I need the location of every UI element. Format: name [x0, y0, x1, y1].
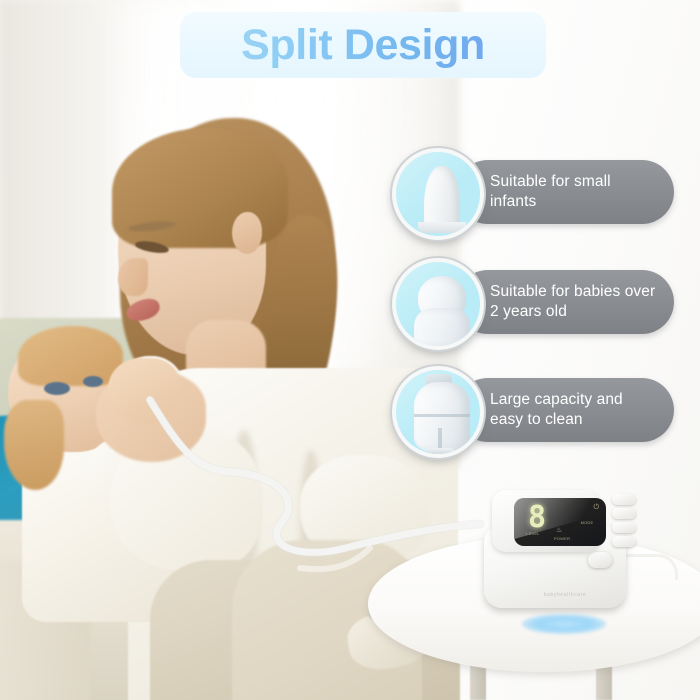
- feature-callout-over-two-years[interactable]: Suitable for babies over 2 years old: [392, 258, 680, 356]
- device-button-1[interactable]: [612, 494, 636, 505]
- mother-ear: [232, 212, 262, 254]
- power-cord: [618, 554, 678, 580]
- feature-pill: Suitable for babies over 2 years old: [456, 270, 674, 334]
- baby-hair-side: [4, 400, 64, 490]
- feature-label: Large capacity and easy to clean: [490, 390, 660, 430]
- title-badge: Split Design: [180, 12, 546, 78]
- baby-hair: [18, 326, 123, 386]
- product-infographic: babyhealthcare 8 ⏻ MODE LEVEL ♨ POWER Sp…: [0, 0, 700, 700]
- device-button-3[interactable]: [612, 522, 636, 533]
- device-button-4[interactable]: [612, 536, 636, 547]
- baby-eye: [83, 376, 103, 387]
- display-label-power: POWER: [550, 536, 574, 541]
- nasal-aspirator-device[interactable]: babyhealthcare 8 ⏻ MODE LEVEL ♨ POWER: [478, 488, 640, 610]
- device-power-knob[interactable]: [588, 552, 612, 568]
- display-label-mode: MODE: [572, 520, 602, 525]
- droplet-icon: ♨: [556, 526, 562, 534]
- device-control-head: 8 ⏻ MODE LEVEL ♨ POWER: [492, 490, 600, 552]
- device-brand-label: babyhealthcare: [520, 592, 610, 598]
- canister-seam: [414, 414, 470, 417]
- nozzle-bulb-body: [414, 308, 470, 348]
- baby-eye: [44, 382, 70, 395]
- power-icon: ⏻: [593, 504, 599, 512]
- device-display-panel: 8 ⏻ MODE LEVEL ♨ POWER: [514, 498, 606, 546]
- canister-foot: [426, 448, 454, 454]
- nozzle-cone-shape: [424, 166, 460, 228]
- display-label-level: LEVEL: [520, 531, 546, 536]
- nozzle-cone-base: [418, 222, 466, 233]
- canister-body: [414, 382, 470, 452]
- display-value: 8: [528, 503, 547, 533]
- feature-pill: Large capacity and easy to clean: [456, 378, 674, 442]
- device-button-2[interactable]: [612, 508, 636, 519]
- feature-pill: Suitable for small infants: [456, 160, 674, 224]
- feature-callout-small-infants[interactable]: Suitable for small infants: [392, 148, 680, 246]
- mother-hand: [108, 358, 180, 424]
- feature-label: Suitable for babies over 2 years old: [490, 282, 660, 322]
- page-title: Split Design: [180, 12, 546, 78]
- feature-callout-large-capacity[interactable]: Large capacity and easy to clean: [392, 366, 680, 464]
- mother-nose: [118, 258, 148, 296]
- device-light-strip: [522, 614, 606, 634]
- narrow-nozzle-icon: [392, 148, 484, 240]
- canister-icon: [392, 366, 484, 458]
- feature-label: Suitable for small infants: [490, 172, 660, 212]
- wide-nozzle-icon: [392, 258, 484, 350]
